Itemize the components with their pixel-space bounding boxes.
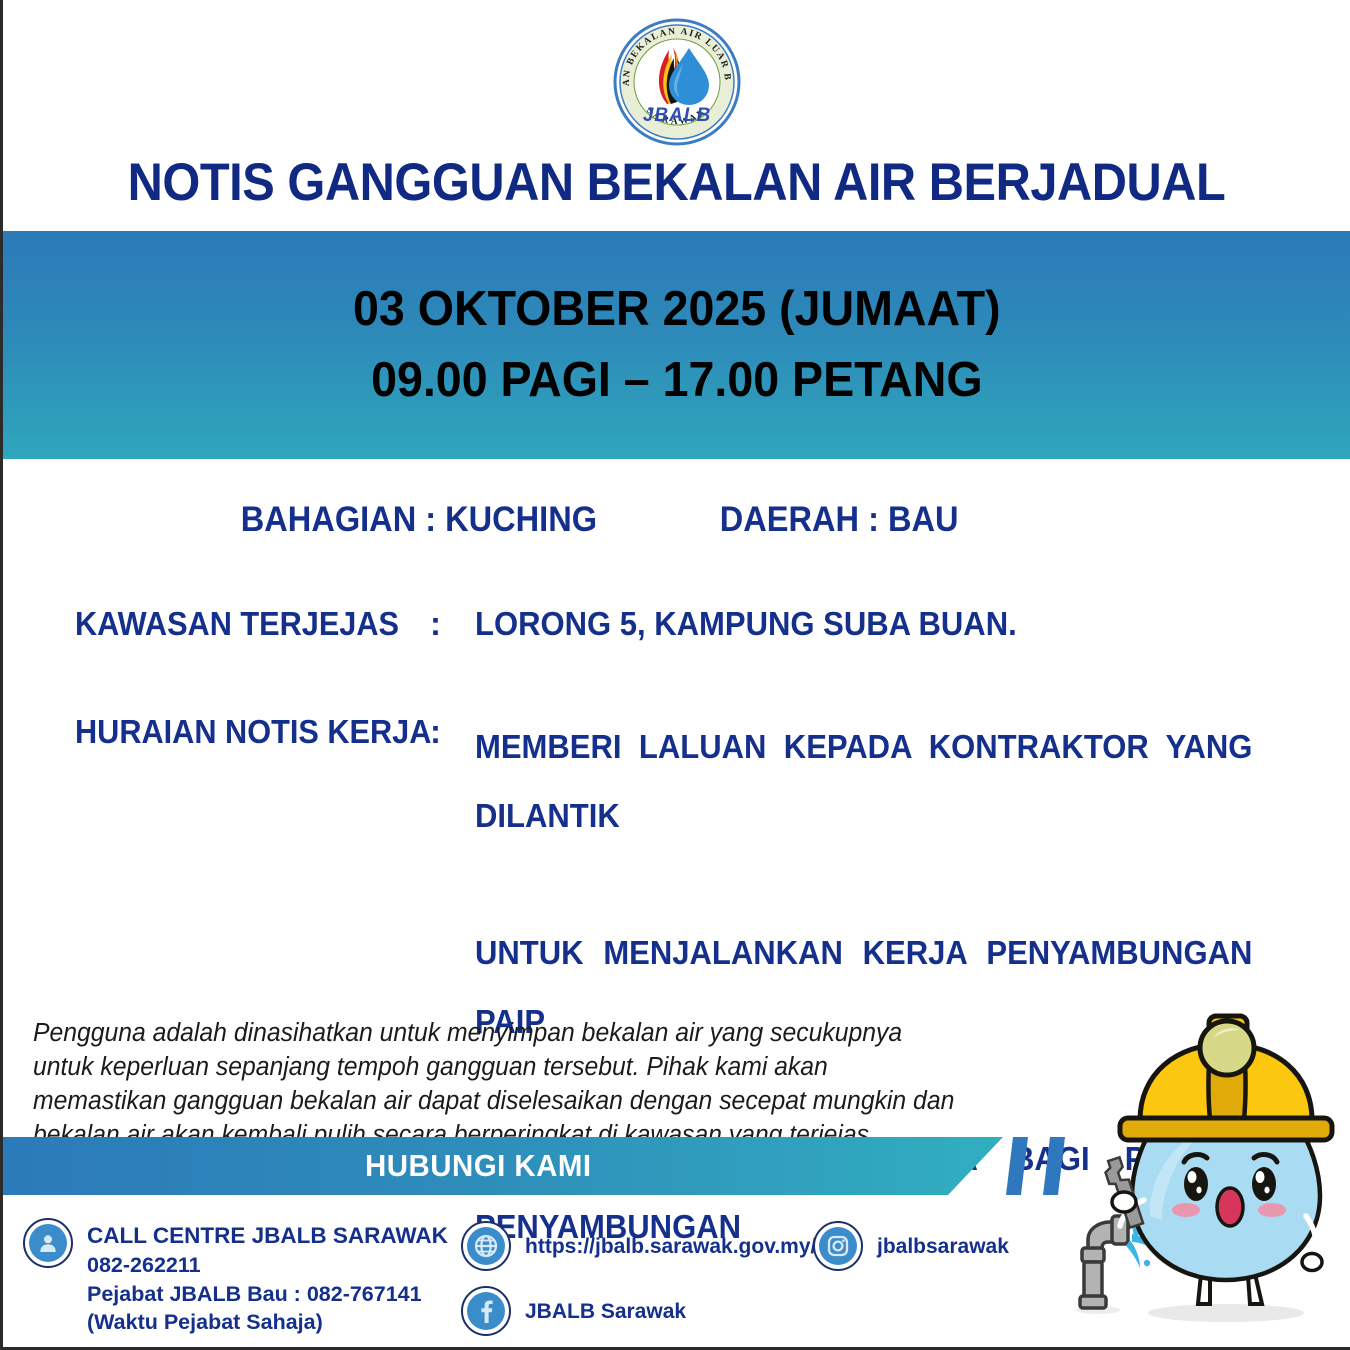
work-description-colon: : [430, 713, 475, 751]
date-line: 03 OKTOBER 2025 (JUMAAT) [353, 274, 1001, 345]
instagram-icon [813, 1221, 863, 1271]
contact-website[interactable]: https://jbalb.sarawak.gov.my/ [461, 1221, 816, 1271]
affected-area-colon: : [430, 605, 475, 643]
affected-area-label: KAWASAN TERJEJAS [75, 605, 405, 643]
water-droplet-mascot [1058, 988, 1348, 1340]
jbalb-logo: JABATAN BEKALAN AIR LUAR BANDAR SARAWAK … [611, 16, 743, 148]
instagram-label: jbalbsarawak [877, 1221, 1009, 1261]
mascot-illustration [1058, 988, 1348, 1340]
call-centre-line1: CALL CENTRE JBALB SARAWAK [87, 1223, 448, 1248]
contact-call-centre[interactable]: CALL CENTRE JBALB SARAWAK 082-262211 Pej… [23, 1218, 448, 1337]
region-row: BAHAGIAN : KUCHING DAERAH : BAU [50, 500, 1303, 540]
contact-banner-title: HUBUNGI KAMI [28, 1137, 978, 1195]
affected-area-value: LORONG 5, KAMPUNG SUBA BUAN. [475, 605, 1252, 643]
svg-text:JBALB: JBALB [642, 105, 710, 126]
contact-facebook[interactable]: JBALB Sarawak [461, 1286, 686, 1336]
affected-area-row: KAWASAN TERJEJAS : LORONG 5, KAMPUNG SUB… [75, 605, 1302, 643]
facebook-label: JBALB Sarawak [525, 1286, 686, 1326]
daerah-label: DAERAH : BAU [720, 500, 959, 540]
globe-icon [461, 1221, 511, 1271]
jbalb-logo-icon: JABATAN BEKALAN AIR LUAR BANDAR SARAWAK … [611, 16, 743, 148]
page-title: NOTIS GANGGUAN BEKALAN AIR BERJADUAL [57, 152, 1296, 213]
contact-list: CALL CENTRE JBALB SARAWAK 082-262211 Pej… [3, 1218, 1063, 1343]
call-centre-line4: (Waktu Pejabat Sahaja) [87, 1310, 323, 1334]
notice-poster: JABATAN BEKALAN AIR LUAR BANDAR SARAWAK … [0, 0, 1350, 1350]
person-icon [23, 1218, 73, 1268]
work-description-label: HURAIAN NOTIS KERJA [75, 713, 405, 751]
contact-instagram[interactable]: jbalbsarawak [813, 1221, 1009, 1271]
facebook-icon [461, 1286, 511, 1336]
call-centre-line3: Pejabat JBALB Bau : 082-767141 [87, 1282, 422, 1306]
date-banner: 03 OKTOBER 2025 (JUMAAT) 09.00 PAGI – 17… [3, 231, 1350, 459]
call-centre-line2: 082-262211 [87, 1253, 201, 1277]
work-description-line: MEMBERI LALUAN KEPADA KONTRAKTOR YANG DI… [475, 713, 1252, 919]
bahagian-label: BAHAGIAN : KUCHING [241, 500, 597, 540]
time-line: 09.00 PAGI – 17.00 PETANG [371, 345, 982, 416]
website-label: https://jbalb.sarawak.gov.my/ [525, 1221, 816, 1261]
call-centre-text: CALL CENTRE JBALB SARAWAK 082-262211 Pej… [87, 1218, 448, 1337]
contact-banner: HUBUNGI KAMI [3, 1137, 1003, 1195]
